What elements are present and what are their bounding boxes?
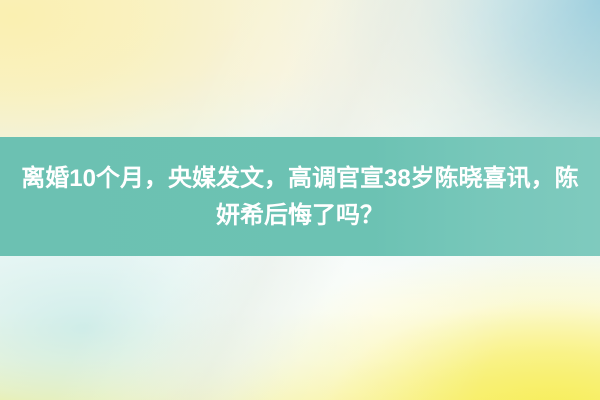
headline-banner: 离婚10个月，央媒发文，高调官宣38岁陈晓喜讯，陈妍希后悔了吗？ (0, 137, 600, 256)
headline-text: 离婚10个月，央媒发文，高调官宣38岁陈晓喜讯，陈妍希后悔了吗？ (14, 160, 586, 234)
article-thumbnail-card: 离婚10个月，央媒发文，高调官宣38岁陈晓喜讯，陈妍希后悔了吗？ (0, 0, 600, 400)
